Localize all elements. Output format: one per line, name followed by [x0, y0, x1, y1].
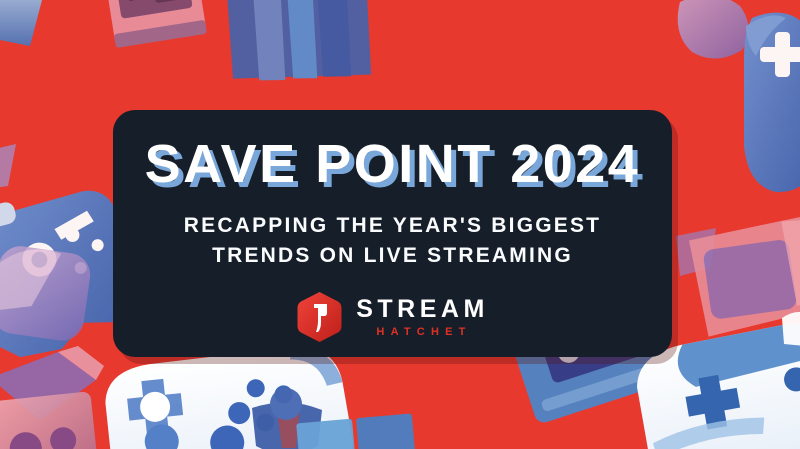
- stream-hatchet-logo: STREAM HATCHET: [296, 291, 489, 343]
- cartridge-purple: [0, 243, 93, 343]
- subtitle-line-1: RECAPPING THE YEAR'S BIGGEST: [184, 214, 601, 237]
- page-title: SAVE POINT 2024: [145, 136, 641, 193]
- logo-wordmark: STREAM HATCHET: [356, 297, 489, 338]
- slide-canvas: SAVE POINT 2024 RECAPPING THE YEAR'S BIG…: [0, 0, 800, 449]
- shield-axe-icon: [296, 291, 343, 343]
- dpad-controller-blue: [744, 13, 800, 192]
- pink-square-shape: [0, 391, 98, 449]
- wordmark-stream: STREAM: [356, 297, 489, 322]
- handheld-console-blue: [223, 0, 375, 87]
- wordmark-hatchet: HATCHET: [356, 327, 489, 338]
- subtitle-line-2: TRENDS ON LIVE STREAMING: [184, 241, 601, 271]
- page-subtitle: RECAPPING THE YEAR'S BIGGEST TRENDS ON L…: [184, 211, 601, 271]
- white-sliver-right: [782, 312, 800, 346]
- title-card: SAVE POINT 2024 RECAPPING THE YEAR'S BIG…: [113, 110, 672, 357]
